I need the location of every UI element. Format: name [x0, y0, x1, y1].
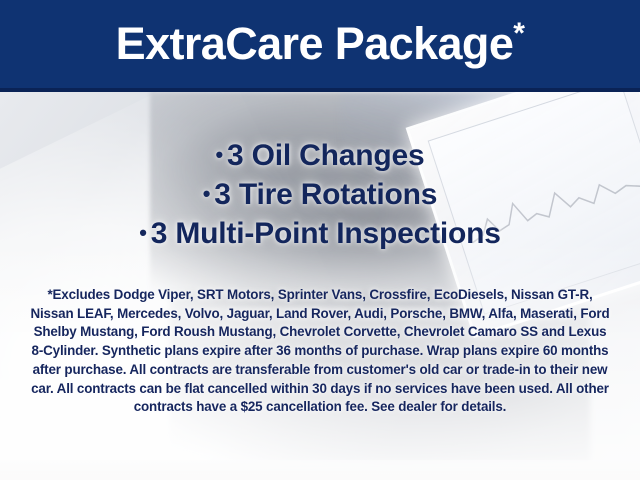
header-band: ExtraCare Package* — [0, 0, 640, 92]
page-title: ExtraCare Package* — [116, 21, 525, 66]
benefit-item-label: 3 Tire Rotations — [214, 178, 437, 211]
page-title-asterisk: * — [513, 17, 524, 50]
benefit-item: •3 Tire Rotations — [0, 175, 640, 214]
benefit-item: •3 Oil Changes — [0, 136, 640, 175]
benefit-item: •3 Multi-Point Inspections — [0, 214, 640, 253]
bullet-icon: • — [203, 181, 211, 206]
disclaimer-text: *Excludes Dodge Viper, SRT Motors, Sprin… — [30, 286, 610, 417]
bullet-icon: • — [216, 142, 224, 167]
extracare-package-promo-banner: ExtraCare Package* •3 Oil Changes •3 Tir… — [0, 0, 640, 480]
bullet-icon: • — [139, 220, 147, 245]
benefits-list: •3 Oil Changes •3 Tire Rotations •3 Mult… — [0, 136, 640, 253]
background-footer-strip — [0, 460, 640, 480]
page-title-text: ExtraCare Package — [116, 18, 514, 69]
benefit-item-label: 3 Multi-Point Inspections — [151, 217, 501, 250]
benefit-item-label: 3 Oil Changes — [227, 139, 424, 172]
